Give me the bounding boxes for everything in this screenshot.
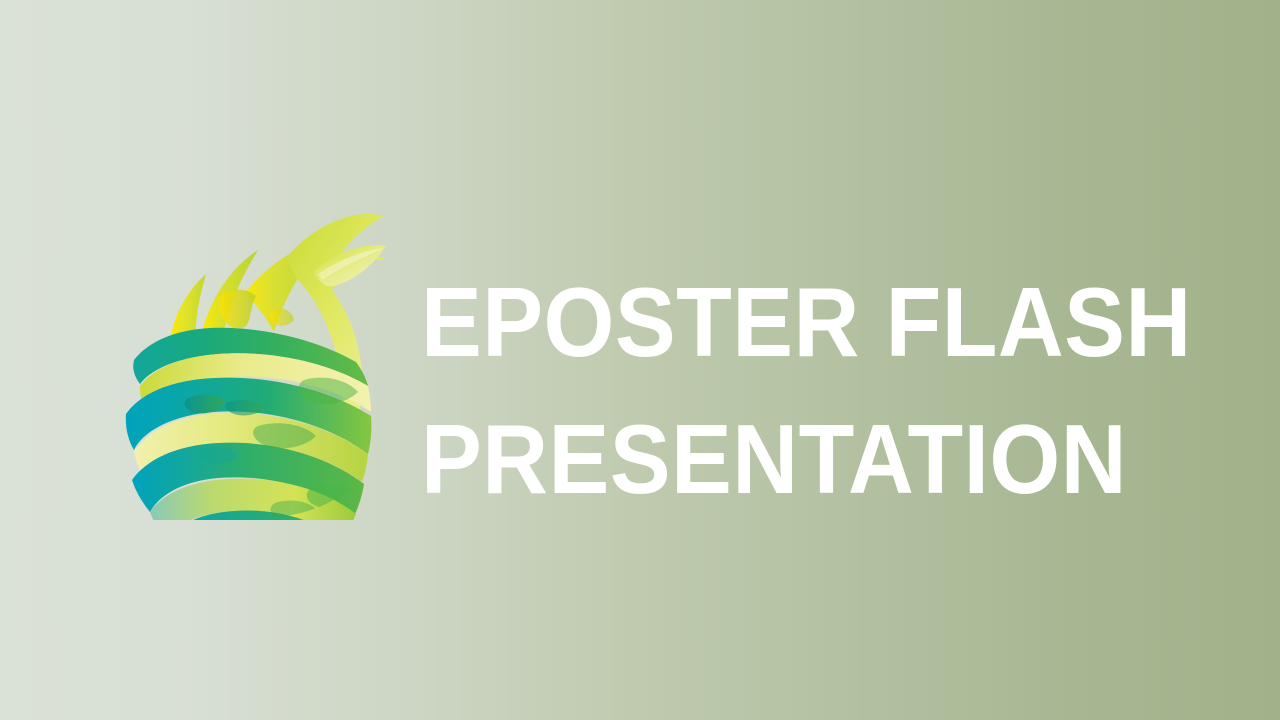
globe-bands [126, 214, 386, 520]
globe-ribbon-logo [118, 202, 410, 520]
presentation-slide: EPOSTER FLASH PRESENTATION [0, 0, 1280, 720]
title-line-2: PRESENTATION [421, 391, 1156, 528]
slide-title: EPOSTER FLASH PRESENTATION [421, 254, 1211, 528]
title-line-1: EPOSTER FLASH [421, 254, 1156, 391]
